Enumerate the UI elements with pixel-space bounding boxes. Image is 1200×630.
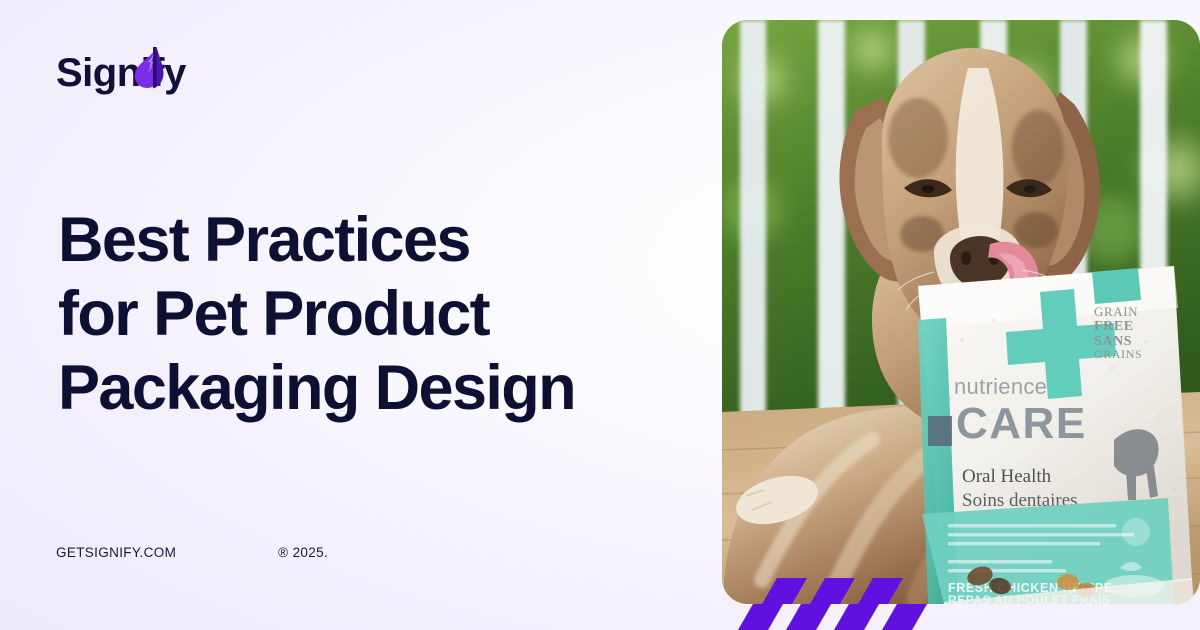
headline-line-2: for Pet Product: [58, 277, 708, 351]
brand-logo[interactable]: Signify: [56, 48, 186, 104]
headline-line-1: Best Practices: [58, 203, 708, 277]
headline-line-3: Packaging Design: [58, 351, 708, 425]
footer: GETSIGNIFY.COM ® 2025.: [56, 545, 328, 560]
svg-text:CARE: CARE: [956, 399, 1087, 448]
social-card-canvas: Signify Best Practices for Pet Product P…: [0, 0, 1200, 630]
brand-wordmark: Signify: [56, 48, 186, 98]
hero-photo: nutrience CARE Oral Health Soins dentair…: [722, 20, 1200, 604]
svg-text:GRAINS: GRAINS: [1094, 347, 1142, 361]
svg-text:Oral Health: Oral Health: [962, 466, 1052, 487]
footer-copyright: ® 2025.: [278, 545, 328, 560]
svg-text:FREE: FREE: [1094, 319, 1134, 334]
signify-leaf-bolt-icon: [131, 46, 165, 92]
footer-website-url[interactable]: GETSIGNIFY.COM: [56, 545, 176, 560]
svg-text:GRAIN: GRAIN: [1094, 304, 1138, 319]
page-title: Best Practices for Pet Product Packaging…: [58, 203, 708, 425]
svg-text:nutrience: nutrience: [954, 374, 1047, 399]
